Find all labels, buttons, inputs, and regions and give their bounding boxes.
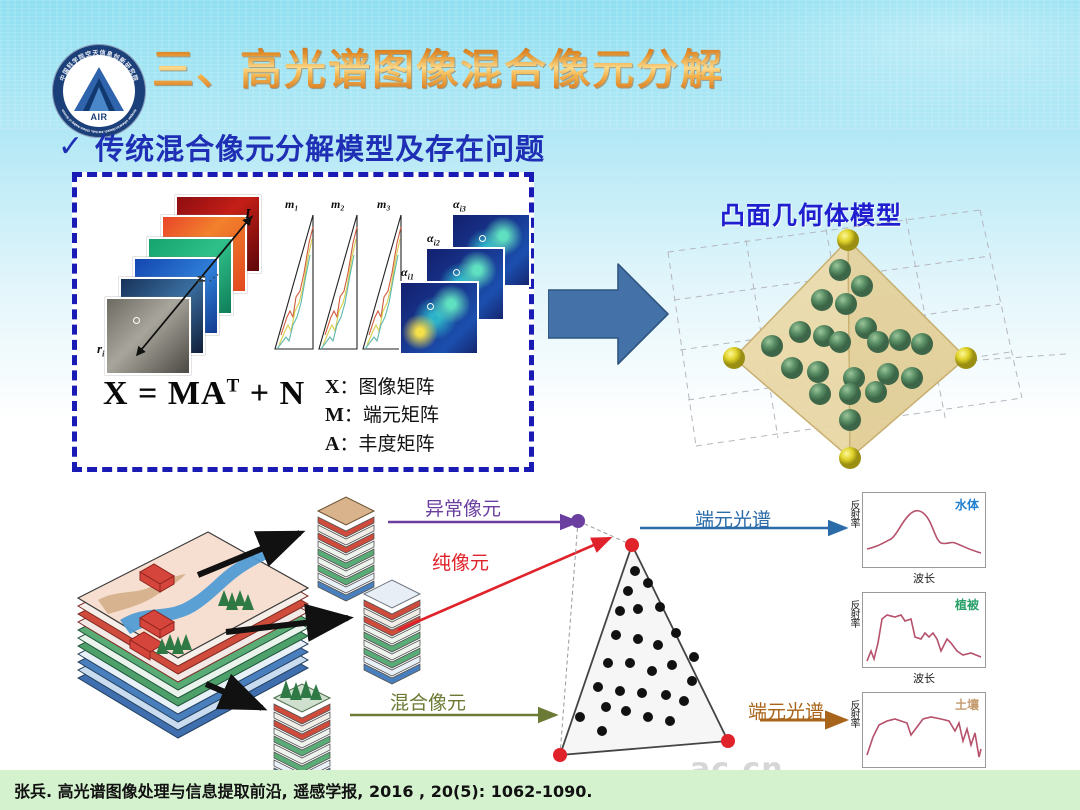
spectrum-name-water: 水体 — [955, 496, 979, 513]
equals-sign: = — [197, 271, 206, 288]
legend-sep: ： — [339, 376, 358, 398]
slide-root: 中国科学院空天信息创新研究院Aerospace Information Rese… — [0, 0, 1080, 810]
spectrum-plot-vegetation: 植被 — [862, 592, 986, 668]
legend-symbol: X — [325, 376, 339, 398]
legend-sep: ： — [344, 404, 363, 426]
air-cas-logo: 中国科学院空天信息创新研究院Aerospace Information Rese… — [52, 44, 146, 138]
label-m1: m₁ — [285, 197, 299, 212]
linear-mixing-model-box: ri L ... = m₁ m₂ m₃ x — [72, 172, 534, 472]
legend-sep: ： — [339, 433, 358, 455]
label-alpha-i1: αi1 — [401, 265, 414, 281]
spectrum-ylabel-water: 反射率 — [846, 500, 861, 527]
spectrum-name-vegetation: 植被 — [955, 596, 979, 613]
L-axis-arrow — [101, 195, 281, 365]
formula-legend: X：图像矩阵 M：端元矩阵 A：丰度矩阵 — [325, 373, 439, 458]
abundance-marker — [453, 269, 460, 276]
legend-text: 图像矩阵 — [358, 376, 434, 398]
legend-symbol: A — [325, 433, 339, 455]
spectrum-xlabel-water: 波长 — [862, 570, 986, 586]
label-m3: m₃ — [377, 197, 391, 212]
label-alpha-i2: αi2 — [427, 231, 440, 247]
endmember-vertex-top — [625, 538, 639, 552]
abundance-marker — [427, 303, 434, 310]
legend-row: A：丰度矩阵 — [325, 430, 439, 458]
formula-transpose: T — [227, 376, 241, 397]
legend-row: X：图像矩阵 — [325, 373, 439, 401]
hyperspectral-image-stack: ri L ... — [101, 195, 281, 365]
logo-mountain-icon — [69, 63, 129, 119]
spectrum-ylabel-vegetation: 反射率 — [846, 600, 861, 627]
spectrum-xlabel-vegetation: 波长 — [862, 670, 986, 686]
abundance-maps: αi3 αi2 αi1 — [395, 195, 535, 367]
spectrum-plot-water: 水体 — [862, 492, 986, 568]
label-anomalous-pixel: 异常像元 — [425, 494, 501, 521]
page-title: 三、高光谱图像混合像元分解 — [152, 46, 724, 94]
anomalous-vertex — [571, 514, 585, 528]
abundance-marker — [479, 235, 486, 242]
label-m2: m₂ — [331, 197, 345, 212]
logo-acronym: AIR — [52, 112, 146, 122]
footer-citation: 张兵. 高光谱图像处理与信息提取前沿, 遥感学报, 2016 , 20(5): … — [0, 778, 592, 802]
legend-row: M：端元矩阵 — [325, 401, 439, 429]
legend-symbol: M — [325, 404, 344, 426]
abundance-map — [399, 281, 479, 355]
label-pure-pixel: 纯像元 — [432, 548, 489, 575]
spectrum-ylabel-soil: 反射率 — [846, 700, 861, 727]
subtitle-text: 传统混合像元分解模型及存在问题 — [95, 126, 545, 168]
legend-text: 丰度矩阵 — [358, 433, 434, 455]
simplex-scatter-triangle — [520, 505, 780, 775]
mixing-formula: X = MAT + N — [103, 375, 305, 413]
footer-bar: 张兵. 高光谱图像处理与信息提取前沿, 遥感学报, 2016 , 20(5): … — [0, 770, 1080, 810]
label-alpha-i3: αi3 — [453, 197, 466, 213]
check-icon: ✓ — [58, 132, 83, 162]
endmember-vertex-right — [721, 734, 735, 748]
spectrum-plot-soil: 土壤 — [862, 692, 986, 768]
spectrum-name-soil: 土壤 — [955, 696, 979, 713]
formula-main: X = MA — [103, 375, 227, 412]
subtitle-row: ✓ 传统混合像元分解模型及存在问题 — [58, 126, 545, 168]
convex-geometry-model — [650, 182, 1070, 482]
formula-tail: + N — [250, 375, 305, 412]
legend-text: 端元矩阵 — [363, 404, 439, 426]
label-mixed-pixel: 混合像元 — [390, 688, 466, 715]
endmember-vertex-left — [553, 748, 567, 762]
